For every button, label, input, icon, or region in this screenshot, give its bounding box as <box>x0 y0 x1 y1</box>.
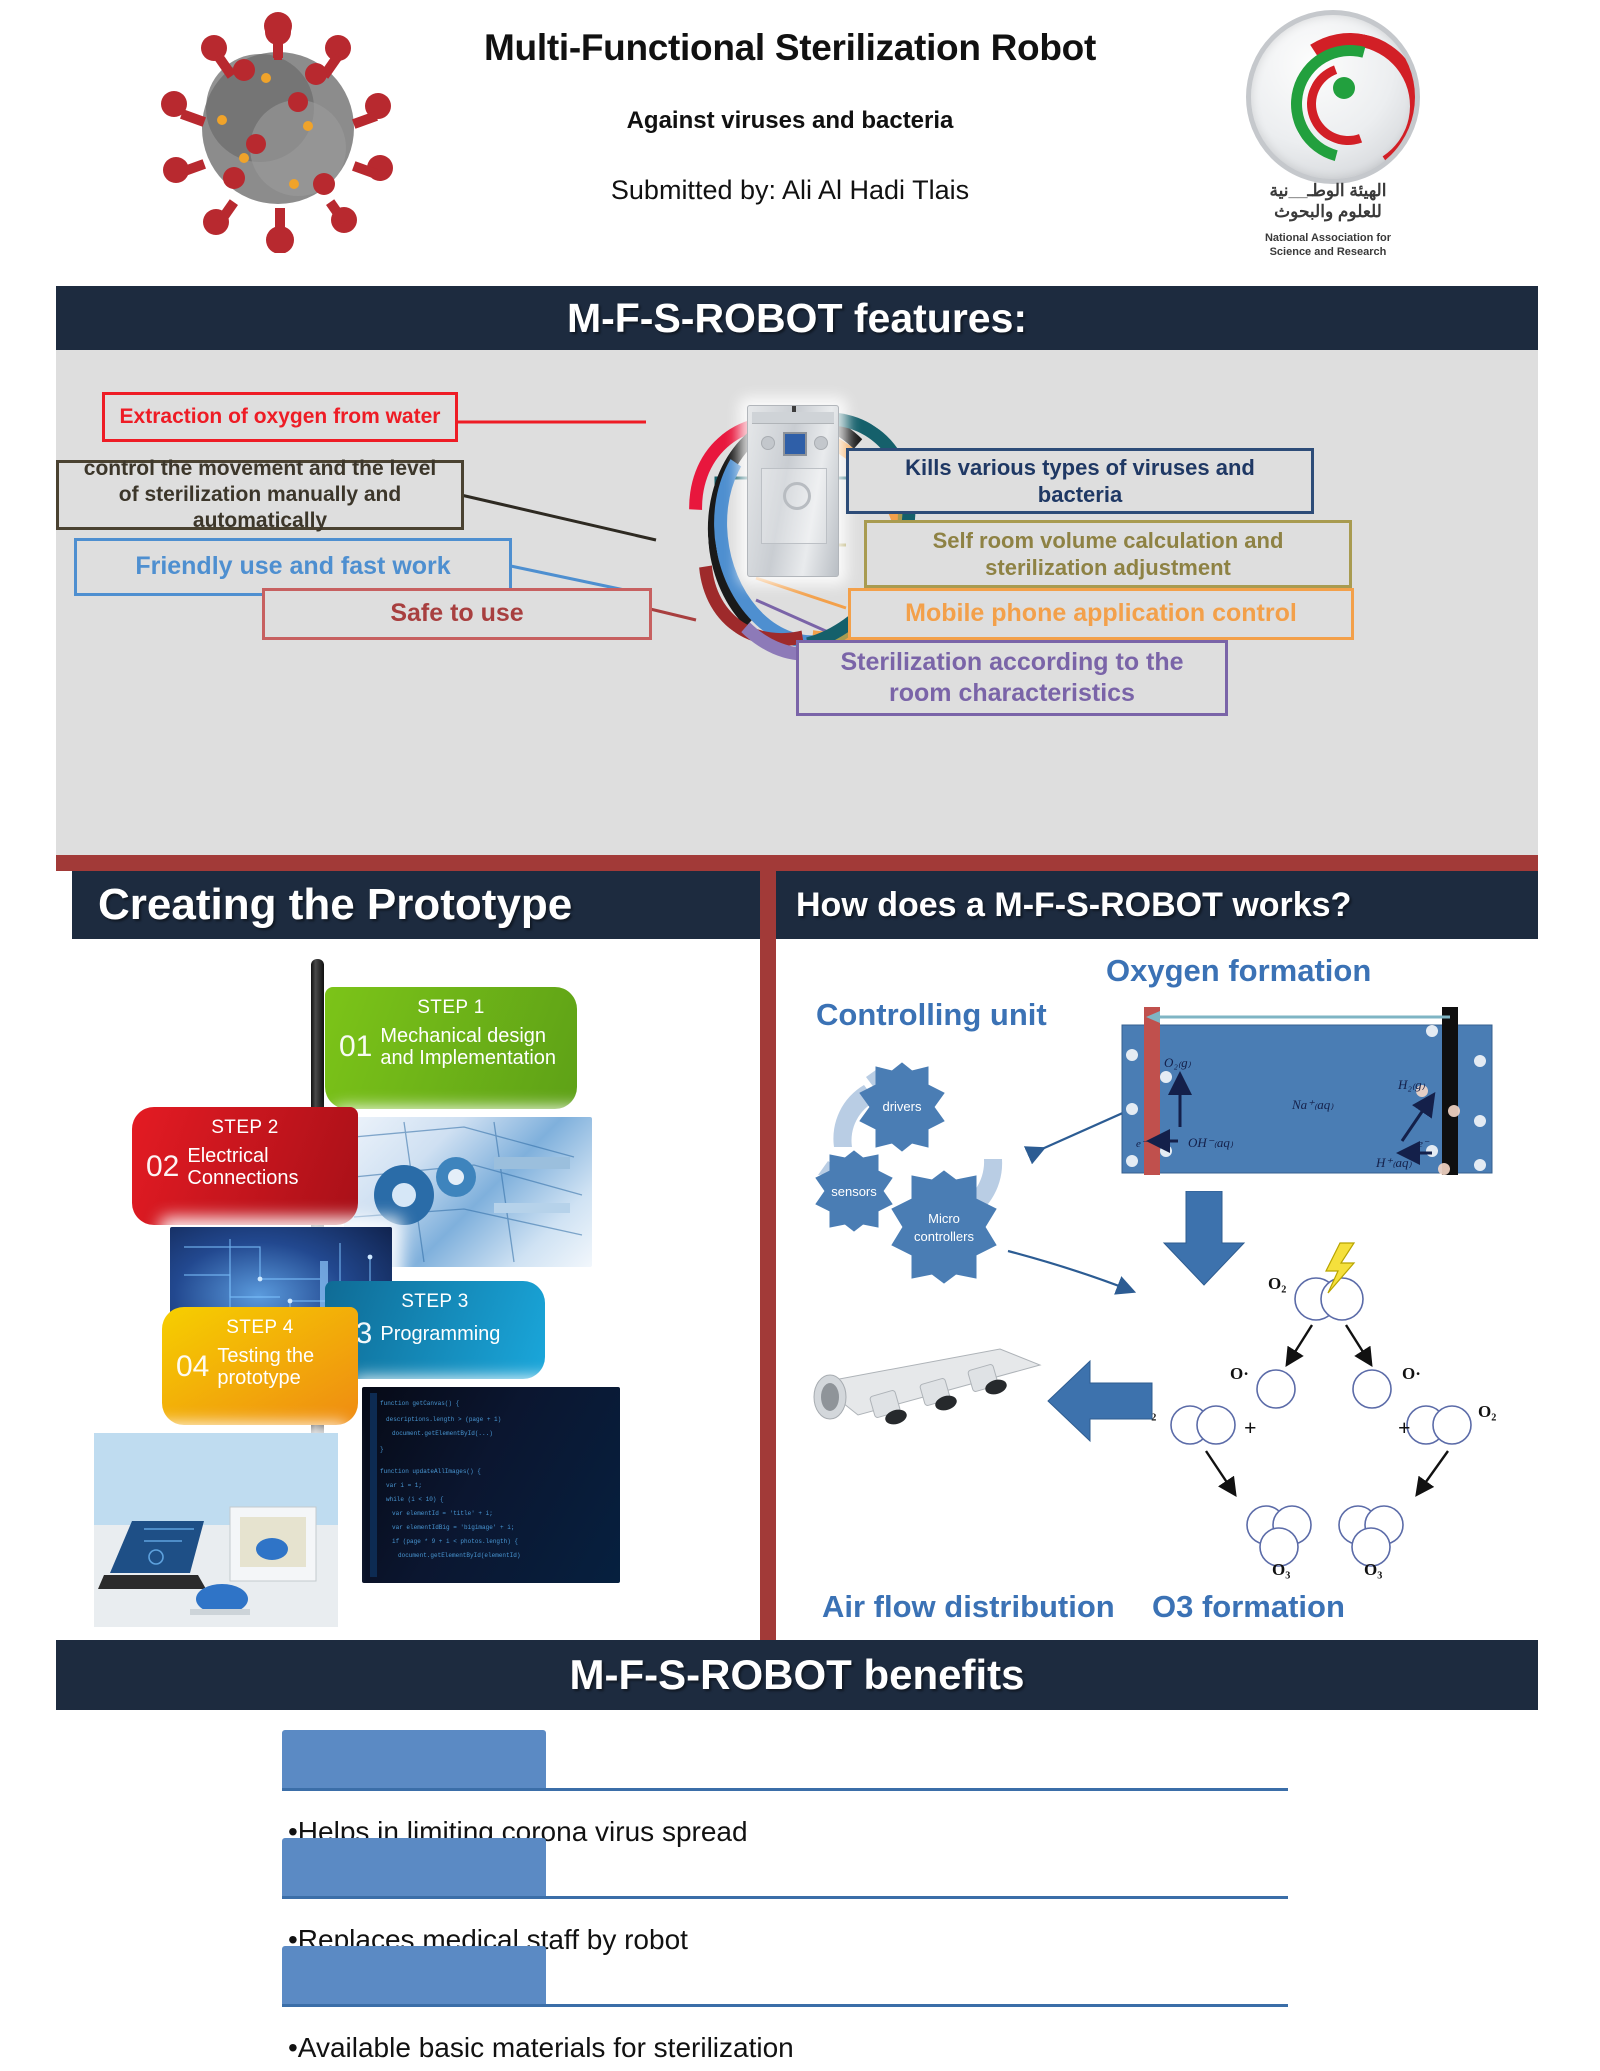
plus-left: + <box>1244 1415 1257 1440</box>
step-label: STEP 3 <box>339 1291 531 1313</box>
svg-text:document.getElementById(...): document.getElementById(...) <box>392 1430 493 1437</box>
feature-label: Extraction of oxygen from water <box>120 404 441 430</box>
svg-text:function getCanvas() {: function getCanvas() { <box>380 1400 460 1407</box>
svg-text:while (i < 10) {: while (i < 10) { <box>386 1496 444 1503</box>
poster-subtitle: Against viruses and bacteria <box>430 107 1150 135</box>
electron-right-label: e⁻ <box>1418 1138 1430 1150</box>
benefit-tab <box>282 1946 546 2006</box>
feature-box-oxygen-extraction[interactable]: Extraction of oxygen from water <box>102 392 458 442</box>
benefit-tab <box>282 1838 546 1898</box>
middle-top-rule <box>56 855 1538 871</box>
step-card-2[interactable]: STEP 2 02 Electrical Connections <box>132 1107 358 1225</box>
organization-logo: الهيئة الوطـ__نية للعلوم والبحوث Nationa… <box>1228 10 1428 280</box>
poster-title: Multi-Functional Sterilization Robot <box>430 28 1150 69</box>
svg-text:descriptions.length > (page +: descriptions.length > (page + 1) <box>386 1416 501 1423</box>
step-label: STEP 4 <box>176 1317 344 1339</box>
poster-author: Submitted by: Ali Al Hadi Tlais <box>430 175 1150 206</box>
step-number: 04 <box>176 1352 209 1382</box>
anode-gas-label: O₂₍g₎ <box>1164 1055 1192 1070</box>
plus-right: + <box>1398 1415 1411 1440</box>
cathode-gas-label: H₂₍g₎ <box>1397 1077 1426 1092</box>
electrolysis-diagram: O₂₍g₎ OH⁻₍aq₎ e⁻ H₂₍g₎ H⁺₍aq₎ e⁻ Na⁺₍aq₎ <box>1102 1001 1506 1181</box>
feature-label: control the movement and the level of st… <box>71 456 449 535</box>
works-panel: Controlling unit Oxygen formation O3 for… <box>776 939 1538 1640</box>
benefit-rule <box>282 1788 1288 1791</box>
step-text: Mechanical design and Implementation <box>380 1025 563 1070</box>
poster-header: Multi-Functional Sterilization Robot Aga… <box>0 0 1600 285</box>
feature-box-kills-viruses[interactable]: Kills various types of viruses and bacte… <box>846 448 1314 514</box>
logo-english-text: National Association for Science and Res… <box>1228 232 1428 260</box>
step-text: Programming <box>380 1323 500 1345</box>
o2-label-top: O₂ <box>1268 1274 1286 1293</box>
o2-label-right: O₂ <box>1478 1402 1496 1421</box>
feature-box-room-volume[interactable]: Self room volume calculation and sterili… <box>864 520 1352 588</box>
sterilization-machine-icon <box>747 405 839 577</box>
step-text: Electrical Connections <box>187 1145 344 1190</box>
title-block: Multi-Functional Sterilization Robot Aga… <box>430 28 1150 206</box>
step-photo-programming: function getCanvas() { descriptions.leng… <box>362 1387 620 1583</box>
coronavirus-icon <box>148 8 408 253</box>
benefit-text: •Available basic materials for steriliza… <box>288 2032 794 2064</box>
middle-divider-rule <box>760 855 776 1640</box>
feature-label: Self room volume calculation and sterili… <box>881 527 1335 582</box>
features-banner: M-F-S-ROBOT features: <box>56 286 1538 350</box>
step-card-4[interactable]: STEP 4 04 Testing the prototype <box>162 1307 358 1425</box>
logo-arabic-text: الهيئة الوطـ__نية للعلوم والبحوث <box>1228 180 1428 223</box>
step-label: STEP 1 <box>339 997 563 1019</box>
svg-text:var elementIdBig = 'bigimage': var elementIdBig = 'bigimage' + i; <box>392 1524 514 1531</box>
svg-text:var i = 1;: var i = 1; <box>386 1482 422 1489</box>
feature-box-mobile-app[interactable]: Mobile phone application control <box>848 588 1354 640</box>
o3-label-right: O₃ <box>1364 1560 1382 1579</box>
feature-label: Sterilization according to the room char… <box>813 647 1211 710</box>
step-number: 02 <box>146 1152 179 1182</box>
electron-left-label: e⁻ <box>1136 1138 1148 1150</box>
ozone-formation-diagram: O₂ O· O· O₂ O₂ + + O₃ O₃ <box>1126 1239 1526 1579</box>
feature-label: Mobile phone application control <box>905 598 1297 629</box>
electrolyte-ion-label: Na⁺₍aq₎ <box>1291 1097 1334 1112</box>
benefit-rule <box>282 1896 1288 1899</box>
svg-text:var elementId = 'title' + i;: var elementId = 'title' + i; <box>392 1510 493 1517</box>
step-photo-testing <box>94 1433 338 1627</box>
svg-text:function updateAllImages() {: function updateAllImages() { <box>380 1468 481 1475</box>
step-number: 01 <box>339 1032 372 1062</box>
benefit-rule <box>282 2004 1288 2007</box>
feature-box-movement-control[interactable]: control the movement and the level of st… <box>56 460 464 530</box>
svg-text:if (page * 9 + i < photos.leng: if (page * 9 + i < photos.length) { <box>392 1538 518 1545</box>
benefits-banner: M-F-S-ROBOT benefits <box>56 1640 1538 1710</box>
feature-label: Friendly use and fast work <box>135 551 450 582</box>
svg-text:}: } <box>380 1446 384 1453</box>
step-card-1[interactable]: STEP 1 01 Mechanical design and Implemen… <box>325 987 577 1109</box>
prototype-banner: Creating the Prototype <box>72 871 760 939</box>
air-manifold-icon <box>800 1331 1058 1459</box>
logo-emblem-icon <box>1246 10 1420 184</box>
step-card-3[interactable]: STEP 3 03 Programming <box>325 1281 545 1379</box>
o-radical-left: O· <box>1230 1364 1249 1383</box>
benefit-tab <box>282 1730 546 1790</box>
feature-label: Kills various types of viruses and bacte… <box>863 454 1297 509</box>
o3-label-left: O₃ <box>1272 1560 1290 1579</box>
feature-box-safe-to-use[interactable]: Safe to use <box>262 588 652 640</box>
cation-label: H⁺₍aq₎ <box>1375 1155 1412 1170</box>
step-text: Testing the prototype <box>217 1345 344 1390</box>
svg-text:document.getElementById(elemen: document.getElementById(elementId) <box>398 1552 520 1559</box>
prototype-panel: STEP 1 01 Mechanical design and Implemen… <box>72 939 760 1640</box>
works-banner: How does a M-F-S-ROBOT works? <box>776 871 1538 939</box>
o-radical-right: O· <box>1402 1364 1421 1383</box>
feature-label: Safe to use <box>390 598 523 629</box>
features-panel: Extraction of oxygen from water control … <box>56 350 1538 855</box>
arrow-left-icon <box>1044 1357 1154 1447</box>
anion-label: OH⁻₍aq₎ <box>1188 1135 1234 1150</box>
feature-box-room-characteristics[interactable]: Sterilization according to the room char… <box>796 640 1228 716</box>
step-label: STEP 2 <box>146 1117 344 1139</box>
